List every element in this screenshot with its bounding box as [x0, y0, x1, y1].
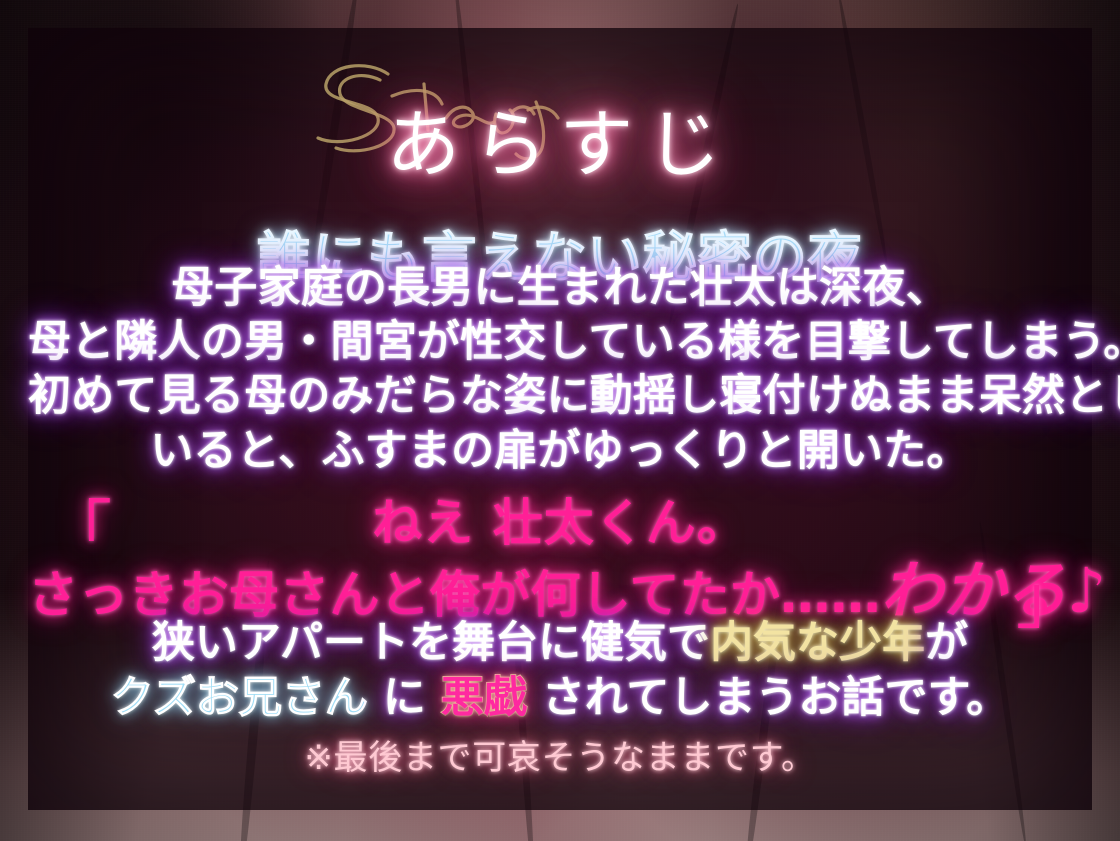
body-line-1: 母子家庭の長男に生まれた壮太は深夜、 — [28, 261, 1092, 315]
page-title: あらすじ — [28, 102, 1092, 189]
outro-highlight-mischief: 悪戯 — [441, 673, 527, 723]
outro-line-1-part-a: 狭いアパートを舞台に健気で — [152, 618, 710, 668]
dialogue-quote: 「 ねえ 壮太くん。 さっきお母さんと俺が何してたか……わかる♪ 」 — [28, 493, 1092, 629]
body-line-4: いると、ふすまの扉がゆっくりと開いた。 — [28, 424, 1092, 478]
body-line-3: 初めて見る母のみだらな姿に動揺し寝付けぬまま呆然として — [28, 369, 1092, 423]
footnote: ※最後まで可哀そうなままです。 — [28, 738, 1092, 779]
outro-highlight-shy-boy: 内気な少年 — [710, 618, 925, 668]
dialogue-line-1: ねえ 壮太くん。 — [28, 493, 1092, 553]
synopsis-outro: 狭いアパートを舞台に健気で内気な少年が クズお兄さん に 悪戯 されてしまうお話… — [28, 616, 1092, 726]
synopsis-banner: あらすじ 誰にも言えない秘密の夜 母子家庭の長男に生まれた壮太は深夜、 母と隣人… — [0, 0, 1120, 841]
outro-line-2-part-d: されてしまうお話です。 — [527, 673, 1009, 723]
outro-line-1-part-c: が — [925, 618, 968, 668]
outro-line-2-part-b: に — [368, 673, 441, 723]
body-line-2: 母と隣人の男・間宮が性交している様を目撃してしまう。 — [28, 315, 1092, 369]
synopsis-content: あらすじ 誰にも言えない秘密の夜 母子家庭の長男に生まれた壮太は深夜、 母と隣人… — [28, 28, 1092, 810]
synopsis-body: 母子家庭の長男に生まれた壮太は深夜、 母と隣人の男・間宮が性交している様を目撃し… — [28, 261, 1092, 478]
outro-highlight-trash-brother: クズお兄さん — [111, 673, 368, 723]
outro-line-2: クズお兄さん に 悪戯 されてしまうお話です。 — [28, 671, 1092, 726]
outro-line-1: 狭いアパートを舞台に健気で内気な少年が — [28, 616, 1092, 671]
